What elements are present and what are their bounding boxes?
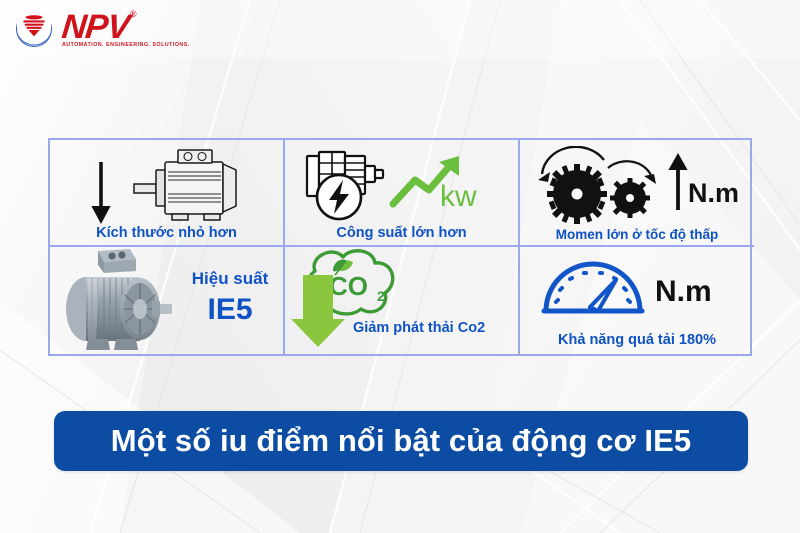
svg-text:CO: CO bbox=[329, 271, 368, 301]
headline-banner: Một số iu điểm nổi bật của động cơ IE5 bbox=[54, 411, 748, 471]
feature-label-overload: Khả năng quá tải 180% bbox=[558, 332, 716, 348]
logo-brand-text: NPV bbox=[60, 11, 130, 43]
feature-cell-high-torque[interactable]: N.m Momen lớn ở tốc độ thấp bbox=[520, 140, 754, 247]
unit-kw-label: kw bbox=[440, 182, 477, 212]
gears-icon bbox=[530, 146, 665, 229]
svg-text:2: 2 bbox=[377, 288, 385, 304]
logo-wordmark: NPV® AUTOMATION. ENGINEERING. SOLUTIONS. bbox=[62, 11, 190, 48]
brand-logo[interactable]: NPV® AUTOMATION. ENGINEERING. SOLUTIONS. bbox=[0, 0, 800, 58]
feature-label-higher-power: Công suất lớn hơn bbox=[336, 225, 466, 241]
unit-nm-label-overload: N.m bbox=[655, 277, 712, 307]
feature-cell-smaller-size[interactable]: Kích thước nhỏ hơn bbox=[50, 140, 285, 247]
feature-grid: Kích thước nhỏ hơn bbox=[48, 138, 752, 356]
feature-label-smaller-size: Kích thước nhỏ hơn bbox=[96, 225, 237, 241]
npv-globe-icon bbox=[14, 9, 54, 49]
co2-cloud-icon: CO 2 bbox=[289, 247, 409, 354]
feature-label-reduce-co2: Giảm phát thải Co2 bbox=[353, 320, 485, 336]
motor-lightning-icon bbox=[303, 150, 389, 229]
gauge-icon bbox=[540, 255, 646, 322]
registered-mark-icon: ® bbox=[130, 9, 137, 19]
feature-label-efficiency: Hiệu suất bbox=[180, 269, 280, 289]
motor-photo-icon bbox=[52, 247, 176, 354]
down-arrow-icon bbox=[88, 160, 114, 231]
feature-cell-higher-power[interactable]: kw Công suất lớn hơn bbox=[285, 140, 520, 247]
headline-banner-text: Một số iu điểm nổi bật của động cơ IE5 bbox=[111, 423, 691, 459]
feature-cell-efficiency[interactable]: Hiệu suất IE5 bbox=[50, 247, 285, 354]
electric-motor-icon bbox=[132, 148, 254, 231]
feature-cell-reduce-co2[interactable]: CO 2 Giảm phát thải Co2 bbox=[285, 247, 520, 354]
feature-cell-overload[interactable]: N.m Khả năng quá tải 180% bbox=[520, 247, 754, 354]
efficiency-class-value: IE5 bbox=[180, 295, 280, 325]
unit-nm-label-torque: N.m bbox=[688, 180, 739, 207]
feature-label-high-torque: Momen lớn ở tốc độ thấp bbox=[556, 227, 718, 242]
